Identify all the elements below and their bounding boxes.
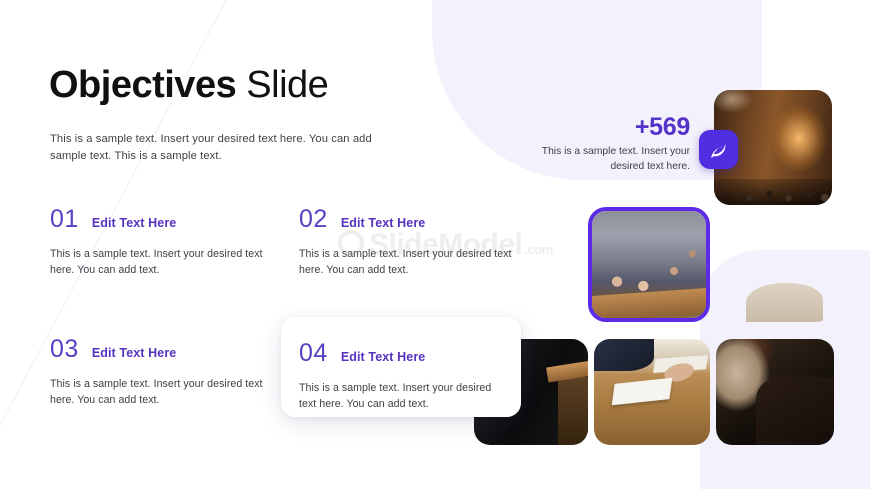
watermark-tld: .com — [524, 242, 552, 257]
photo-desk-detail — [592, 288, 706, 318]
watermark-text: SlideModel — [369, 228, 522, 262]
page-title: Objectives Slide — [49, 62, 328, 108]
slidemodel-watermark: SlideModel.com — [338, 228, 553, 262]
page-subtitle: This is a sample text. Insert your desir… — [50, 131, 390, 164]
photo-desk-papers[interactable] — [594, 339, 710, 445]
objective-description: This is a sample text. Insert your desir… — [50, 377, 265, 408]
photo-paper-detail-1 — [611, 378, 672, 406]
photo-audience-seated[interactable] — [588, 207, 710, 322]
objective-heading: 03 Edit Text Here — [50, 336, 265, 363]
photo-shoulder-detail — [746, 283, 823, 322]
objective-item-03[interactable]: 03 Edit Text Here This is a sample text.… — [50, 336, 265, 408]
objective-number: 03 — [50, 336, 79, 363]
objective-heading: 04 Edit Text Here — [299, 340, 499, 367]
objective-card-04[interactable]: 04 Edit Text Here This is a sample text.… — [281, 317, 521, 417]
photo-image — [592, 211, 706, 318]
photo-image — [716, 207, 832, 322]
objective-label: Edit Text Here — [92, 346, 177, 360]
objective-number: 01 — [50, 206, 79, 233]
feather-icon-badge[interactable] — [699, 130, 738, 169]
objective-label: Edit Text Here — [341, 350, 426, 364]
objective-number: 02 — [299, 206, 328, 233]
photo-image — [594, 339, 710, 445]
objective-description: This is a sample text. Insert your desir… — [50, 247, 265, 278]
objective-heading: 01 Edit Text Here — [50, 206, 265, 233]
photo-person-dark-chair[interactable] — [716, 339, 834, 445]
objective-item-04[interactable]: 04 Edit Text Here This is a sample text.… — [299, 340, 499, 412]
objective-label: Edit Text Here — [92, 216, 177, 230]
watermark-ring-icon — [338, 230, 364, 256]
objective-item-01[interactable]: 01 Edit Text Here This is a sample text.… — [50, 206, 265, 278]
photo-suit-detail — [594, 339, 654, 371]
page-title-bold: Objectives — [49, 64, 236, 106]
page-title-light: Slide — [246, 64, 328, 106]
stat-block: +569 This is a sample text. Insert your … — [512, 113, 690, 174]
photo-crowd-detail — [714, 179, 832, 205]
feather-icon — [709, 140, 729, 160]
stat-description: This is a sample text. Insert your desir… — [512, 145, 690, 174]
objective-number: 04 — [299, 340, 328, 367]
objective-description: This is a sample text. Insert your desir… — [299, 381, 499, 412]
photo-desk-side-detail — [558, 377, 588, 445]
slide-canvas: Objectives Slide This is a sample text. … — [0, 0, 870, 489]
photo-chair-detail — [756, 377, 834, 445]
photo-woman-looking-up[interactable] — [716, 207, 832, 322]
stat-value: +569 — [512, 113, 690, 141]
photo-image — [716, 339, 834, 445]
